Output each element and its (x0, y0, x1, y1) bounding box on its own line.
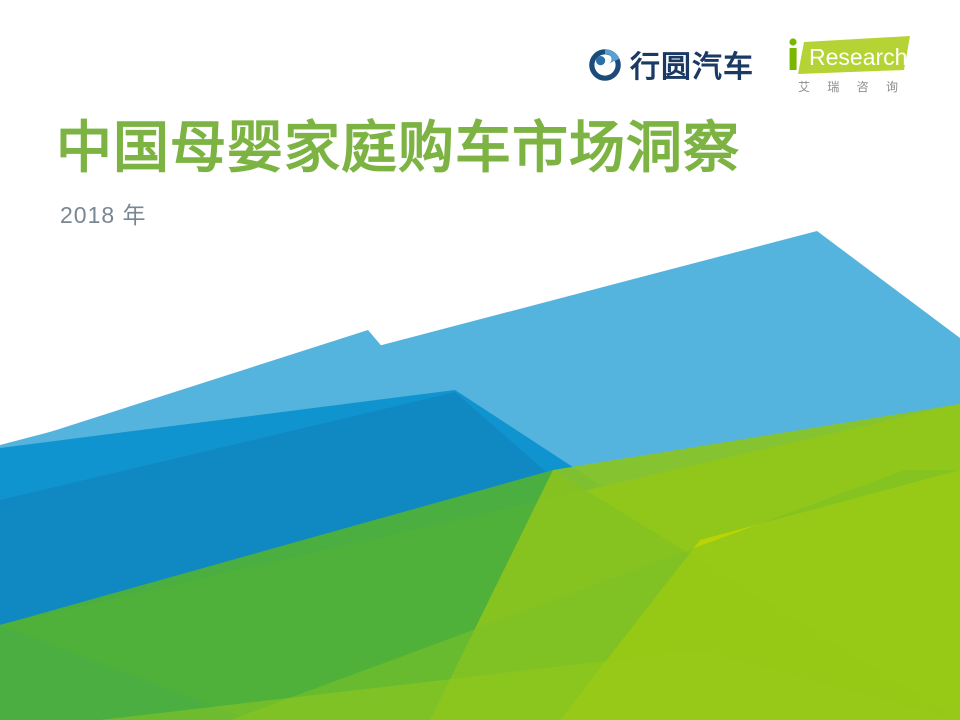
logo-bar: 行圆汽车 Research 艾 瑞 咨 询 (588, 34, 912, 94)
background-polygon-artwork (0, 0, 960, 720)
page-subtitle: 2018 年 (60, 202, 740, 230)
svg-text:Research: Research (809, 44, 907, 70)
partner-logo-xingyuan: 行圆汽车 (588, 34, 754, 87)
title-block: 中国母婴家庭购车市场洞察 2018 年 (56, 116, 740, 230)
iresearch-chinese-wordmark: 艾 瑞 咨 询 (791, 80, 905, 94)
brand-logo-iresearch: Research 艾 瑞 咨 询 (784, 34, 912, 94)
partner-logo-wordmark: 行圆汽车 (630, 53, 754, 83)
swirl-icon (588, 48, 622, 87)
iresearch-mark: Research (784, 34, 912, 78)
report-cover-slide: 行圆汽车 Research 艾 瑞 咨 询 中国母婴家庭购车市场洞察 2018 … (0, 0, 960, 720)
page-title: 中国母婴家庭购车市场洞察 (56, 116, 740, 180)
